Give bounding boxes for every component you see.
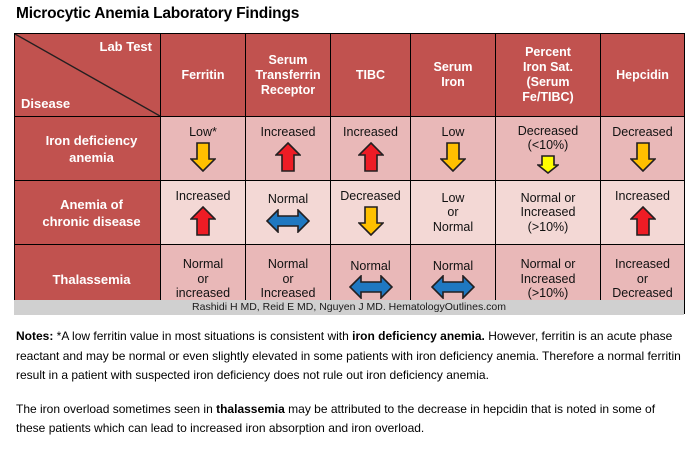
- header-disease-label: Disease: [21, 96, 70, 111]
- header-corner-cell: Lab TestDisease: [15, 34, 161, 117]
- column-header-3: TIBC: [331, 34, 411, 117]
- column-header-5: Percent Iron Sat. (Serum Fe/TIBC): [496, 34, 601, 117]
- header-lab-test-label: Lab Test: [100, 39, 153, 54]
- data-cell-r2-c1: Increased: [161, 181, 246, 245]
- data-cell-r1-c3: Increased: [331, 117, 411, 181]
- arrow-down-icon: [440, 142, 466, 172]
- note2-bold-a: thalassemia: [216, 402, 285, 416]
- data-cell-r2-c6: Increased: [601, 181, 685, 245]
- disease-label-cell: Iron deficiency anemia: [15, 117, 161, 181]
- column-header-2: Serum Transferrin Receptor: [246, 34, 331, 117]
- note2-text-a: The iron overload sometimes seen in: [16, 402, 216, 416]
- data-cell-r1-c4: Low: [411, 117, 496, 181]
- data-cell-r1-c1: Low*: [161, 117, 246, 181]
- notes-section: Notes: *A low ferritin value in most sit…: [16, 327, 682, 453]
- note1-text-a: *A low ferritin value in most situations…: [53, 329, 352, 343]
- data-cell-r2-c3: Decreased: [331, 181, 411, 245]
- data-cell-r2-c4: Low or Normal: [411, 181, 496, 245]
- credit-line: Rashidi H MD, Reid E MD, Nguyen J MD. He…: [14, 300, 684, 315]
- arrow-left-right-icon: [431, 275, 475, 299]
- lab-findings-table: Lab TestDiseaseFerritinSerum Transferrin…: [14, 33, 684, 314]
- arrow-up-icon: [630, 206, 656, 236]
- arrow-left-right-icon: [349, 275, 393, 299]
- table-header-row: Lab TestDiseaseFerritinSerum Transferrin…: [15, 34, 685, 117]
- column-header-1: Ferritin: [161, 34, 246, 117]
- data-cell-r2-c5: Normal or Increased (>10%): [496, 181, 601, 245]
- arrow-up-icon: [358, 142, 384, 172]
- page-title: Microcytic Anemia Laboratory Findings: [16, 5, 299, 23]
- note-paragraph-1: Notes: *A low ferritin value in most sit…: [16, 327, 682, 386]
- notes-lead-label: Notes:: [16, 329, 53, 343]
- data-cell-r1-c6: Decreased: [601, 117, 685, 181]
- arrow-down-icon: [358, 206, 384, 236]
- data-cell-r2-c2: Normal: [246, 181, 331, 245]
- arrow-down-icon: [190, 142, 216, 172]
- data-cell-r1-c5: Decreased (<10%): [496, 117, 601, 181]
- column-header-6: Hepcidin: [601, 34, 685, 117]
- column-header-4: Serum Iron: [411, 34, 496, 117]
- arrow-down-icon: [537, 155, 559, 174]
- disease-label-cell: Anemia of chronic disease: [15, 181, 161, 245]
- table-row: Iron deficiency anemiaLow*IncreasedIncre…: [15, 117, 685, 181]
- note-paragraph-2: The iron overload sometimes seen in thal…: [16, 400, 682, 439]
- data-cell-r1-c2: Increased: [246, 117, 331, 181]
- arrow-up-icon: [190, 206, 216, 236]
- arrow-up-icon: [275, 142, 301, 172]
- note1-bold-a: iron deficiency anemia.: [352, 329, 485, 343]
- arrow-left-right-icon: [266, 209, 310, 233]
- arrow-down-icon: [630, 142, 656, 172]
- table-row: Anemia of chronic diseaseIncreasedNormal…: [15, 181, 685, 245]
